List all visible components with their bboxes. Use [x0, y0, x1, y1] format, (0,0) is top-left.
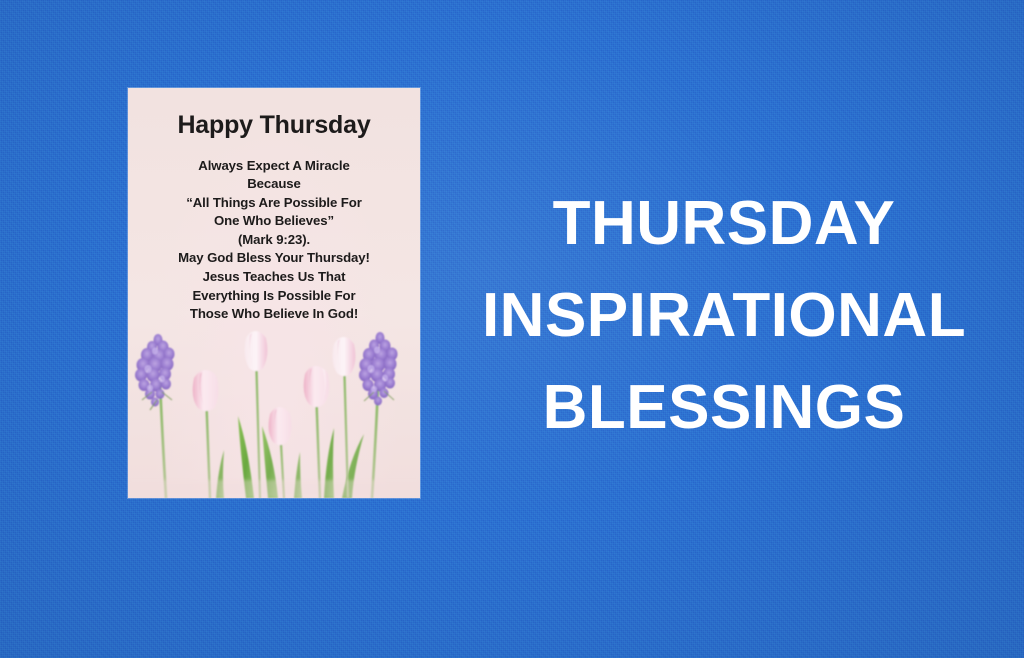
headline-line-2: INSPIRATIONAL: [440, 270, 1008, 362]
headline-line-1: THURSDAY: [440, 178, 1008, 270]
lavender-left: [135, 334, 175, 498]
card-line-8: Everything Is Possible For: [128, 287, 420, 306]
tulip-1: [193, 370, 219, 498]
poster-canvas: Happy Thursday Always Expect A Miracle B…: [0, 0, 1024, 658]
card-line-2: Because: [128, 175, 420, 194]
card-title: Happy Thursday: [128, 112, 420, 140]
card-line-5: (Mark 9:23).: [128, 231, 420, 250]
card-line-1: Always Expect A Miracle: [128, 157, 420, 176]
card-text-block: Happy Thursday Always Expect A Miracle B…: [128, 112, 420, 324]
card-line-4: One Who Believes”: [128, 212, 420, 231]
headline-block: THURSDAY INSPIRATIONAL BLESSINGS: [440, 178, 1008, 454]
card-line-6: May God Bless Your Thursday!: [128, 249, 420, 268]
card-line-7: Jesus Teaches Us That: [128, 268, 420, 287]
lavender-right: [359, 332, 398, 498]
card-line-9: Those Who Believe In God!: [128, 305, 420, 324]
greeting-card: Happy Thursday Always Expect A Miracle B…: [128, 88, 420, 498]
floral-arrangement: [128, 330, 420, 498]
floral-svg: [128, 330, 420, 498]
card-line-3: “All Things Are Possible For: [128, 194, 420, 213]
headline-line-3: BLESSINGS: [440, 362, 1008, 454]
